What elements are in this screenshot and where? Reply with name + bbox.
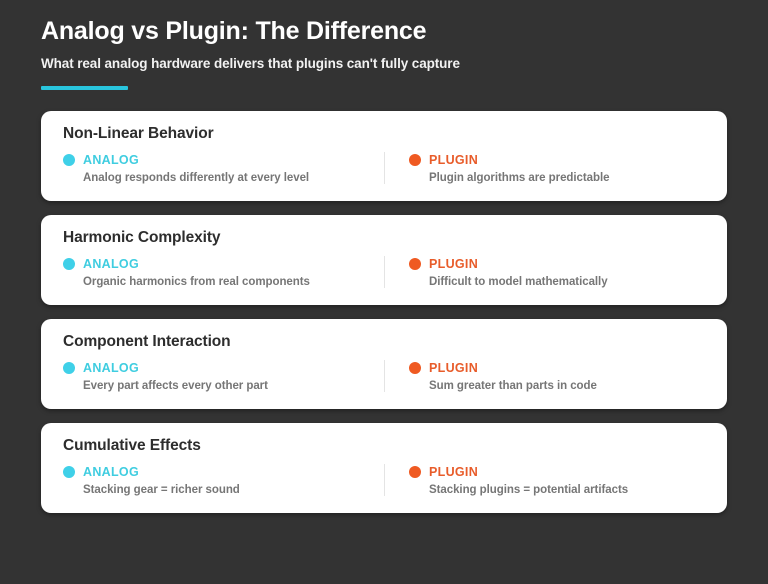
card-title: Harmonic Complexity xyxy=(63,229,705,247)
plugin-column: PLUGIN Difficult to model mathematically xyxy=(384,256,705,288)
analog-dot-icon xyxy=(63,154,75,166)
plugin-header: PLUGIN xyxy=(409,256,705,271)
plugin-header: PLUGIN xyxy=(409,152,705,167)
page-title: Analog vs Plugin: The Difference xyxy=(41,16,727,47)
card-columns: ANALOG Analog responds differently at ev… xyxy=(63,152,705,184)
page-subtitle: What real analog hardware delivers that … xyxy=(41,56,727,71)
plugin-header: PLUGIN xyxy=(409,464,705,479)
analog-description: Every part affects every other part xyxy=(83,380,366,392)
analog-column: ANALOG Organic harmonics from real compo… xyxy=(63,256,384,288)
analog-header: ANALOG xyxy=(63,360,366,375)
plugin-column: PLUGIN Plugin algorithms are predictable xyxy=(384,152,705,184)
card-title: Cumulative Effects xyxy=(63,437,705,455)
header: Analog vs Plugin: The Difference What re… xyxy=(41,0,727,90)
analog-description: Analog responds differently at every lev… xyxy=(83,172,366,184)
comparison-card-list: Non-Linear Behavior ANALOG Analog respon… xyxy=(41,111,727,513)
plugin-label: PLUGIN xyxy=(429,361,478,375)
analog-dot-icon xyxy=(63,362,75,374)
plugin-label: PLUGIN xyxy=(429,257,478,271)
card-columns: ANALOG Stacking gear = richer sound PLUG… xyxy=(63,464,705,496)
analog-header: ANALOG xyxy=(63,464,366,479)
analog-header: ANALOG xyxy=(63,256,366,271)
analog-header: ANALOG xyxy=(63,152,366,167)
card-title: Component Interaction xyxy=(63,333,705,351)
plugin-description: Stacking plugins = potential artifacts xyxy=(429,484,705,496)
comparison-card: Cumulative Effects ANALOG Stacking gear … xyxy=(41,423,727,513)
analog-description: Stacking gear = richer sound xyxy=(83,484,366,496)
analog-column: ANALOG Every part affects every other pa… xyxy=(63,360,384,392)
analog-label: ANALOG xyxy=(83,257,139,271)
analog-label: ANALOG xyxy=(83,153,139,167)
plugin-dot-icon xyxy=(409,362,421,374)
card-title: Non-Linear Behavior xyxy=(63,125,705,143)
plugin-column: PLUGIN Sum greater than parts in code xyxy=(384,360,705,392)
plugin-description: Difficult to model mathematically xyxy=(429,276,705,288)
analog-label: ANALOG xyxy=(83,361,139,375)
comparison-card: Component Interaction ANALOG Every part … xyxy=(41,319,727,409)
analog-label: ANALOG xyxy=(83,465,139,479)
card-columns: ANALOG Every part affects every other pa… xyxy=(63,360,705,392)
accent-underline-bar xyxy=(41,86,128,90)
plugin-dot-icon xyxy=(409,466,421,478)
plugin-dot-icon xyxy=(409,154,421,166)
comparison-card: Harmonic Complexity ANALOG Organic harmo… xyxy=(41,215,727,305)
plugin-label: PLUGIN xyxy=(429,153,478,167)
plugin-dot-icon xyxy=(409,258,421,270)
plugin-label: PLUGIN xyxy=(429,465,478,479)
analog-column: ANALOG Stacking gear = richer sound xyxy=(63,464,384,496)
card-columns: ANALOG Organic harmonics from real compo… xyxy=(63,256,705,288)
analog-dot-icon xyxy=(63,258,75,270)
analog-dot-icon xyxy=(63,466,75,478)
plugin-column: PLUGIN Stacking plugins = potential arti… xyxy=(384,464,705,496)
comparison-card: Non-Linear Behavior ANALOG Analog respon… xyxy=(41,111,727,201)
infographic-page: Analog vs Plugin: The Difference What re… xyxy=(0,0,768,584)
analog-column: ANALOG Analog responds differently at ev… xyxy=(63,152,384,184)
analog-description: Organic harmonics from real components xyxy=(83,276,366,288)
plugin-header: PLUGIN xyxy=(409,360,705,375)
plugin-description: Plugin algorithms are predictable xyxy=(429,172,705,184)
plugin-description: Sum greater than parts in code xyxy=(429,380,705,392)
